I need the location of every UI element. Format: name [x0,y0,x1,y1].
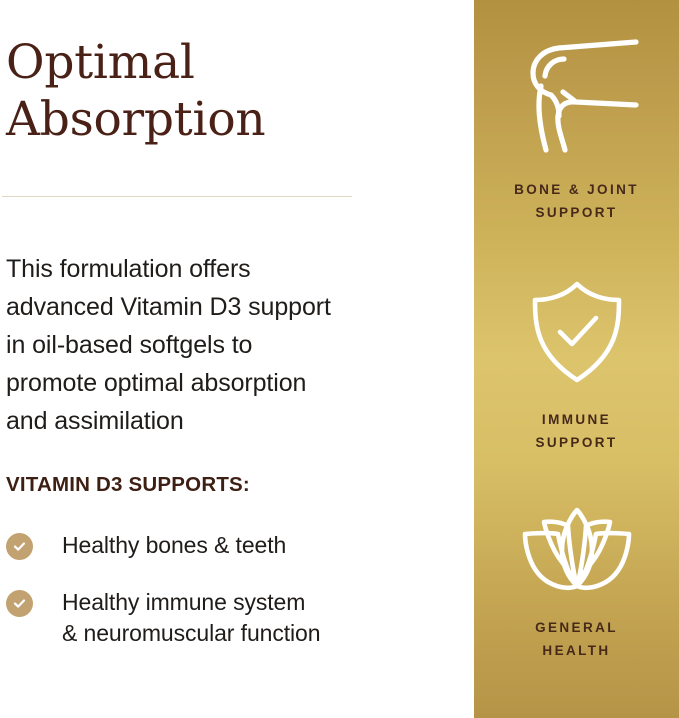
supports-heading: VITAMIN D3 SUPPORTS: [6,472,250,498]
feature-label-line-2: SUPPORT [514,201,639,224]
list-item-line-1: Healthy immune system [62,587,320,618]
feature-label-line-1: IMMUNE [535,408,617,431]
check-circle-icon [6,533,33,560]
feature-label-line-2: HEALTH [535,639,618,662]
page-title: Optimal Absorption [6,34,426,149]
product-benefits-panel: Optimal Absorption This formulation offe… [0,0,679,718]
feature-label: IMMUNE SUPPORT [535,408,617,454]
title-divider [2,196,352,197]
shield-check-icon [527,280,627,384]
feature-bone-joint: BONE & JOINT SUPPORT [474,26,679,224]
feature-general-health: GENERAL HEALTH [474,506,679,662]
benefits-gold-panel: BONE & JOINT SUPPORT IMMUNE SUPPORT [474,0,679,718]
list-item: Healthy immune system & neuromuscular fu… [6,587,366,649]
knee-joint-icon [515,26,639,154]
feature-label-line-1: BONE & JOINT [514,178,639,201]
feature-immune-support: IMMUNE SUPPORT [474,280,679,454]
list-item-text: Healthy immune system & neuromuscular fu… [62,587,320,649]
lotus-flower-icon [518,506,636,592]
list-item: Healthy bones & teeth [6,530,366,561]
feature-label-line-2: SUPPORT [535,431,617,454]
description-paragraph: This formulation offers advanced Vitamin… [6,250,336,440]
check-circle-icon [6,590,33,617]
feature-label-line-1: GENERAL [535,616,618,639]
list-item-line-2: & neuromuscular function [62,618,320,649]
feature-label: GENERAL HEALTH [535,616,618,662]
list-item-text: Healthy bones & teeth [62,530,286,561]
left-content-column: Optimal Absorption This formulation offe… [0,0,474,718]
page-title-line-1: Optimal [6,34,426,91]
list-item-line-1: Healthy bones & teeth [62,530,286,561]
feature-label: BONE & JOINT SUPPORT [514,178,639,224]
page-title-line-2: Absorption [6,91,426,148]
supports-list: Healthy bones & teeth Healthy immune sys… [6,530,366,649]
